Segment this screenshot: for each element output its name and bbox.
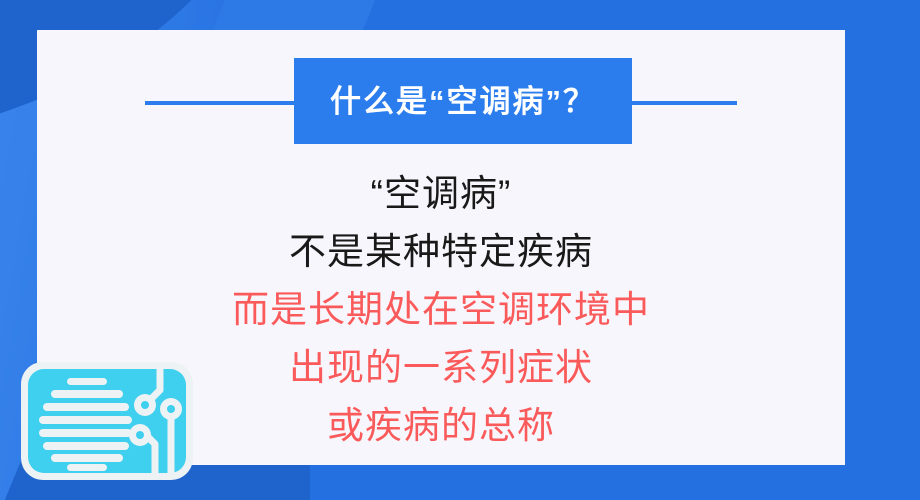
body-line-2: 不是某种特定疾病	[289, 226, 593, 278]
body-line-5: 或疾病的总称	[327, 400, 555, 452]
title-rule-left	[145, 101, 297, 105]
title-banner: 什么是“空调病”？	[294, 58, 632, 144]
title-row: 什么是“空调病”？	[37, 58, 845, 144]
body-line-4: 出现的一系列症状	[289, 342, 593, 394]
poster-canvas: 什么是“空调病”？ “空调病” 不是某种特定疾病 而是长期处在空调环境中 出现的…	[0, 0, 920, 500]
page-title: 什么是“空调病”？	[330, 86, 596, 117]
body-line-3: 而是长期处在空调环境中	[232, 284, 650, 336]
body-line-1: “空调病”	[371, 168, 512, 220]
air-conditioner-circuit-icon	[19, 360, 195, 482]
